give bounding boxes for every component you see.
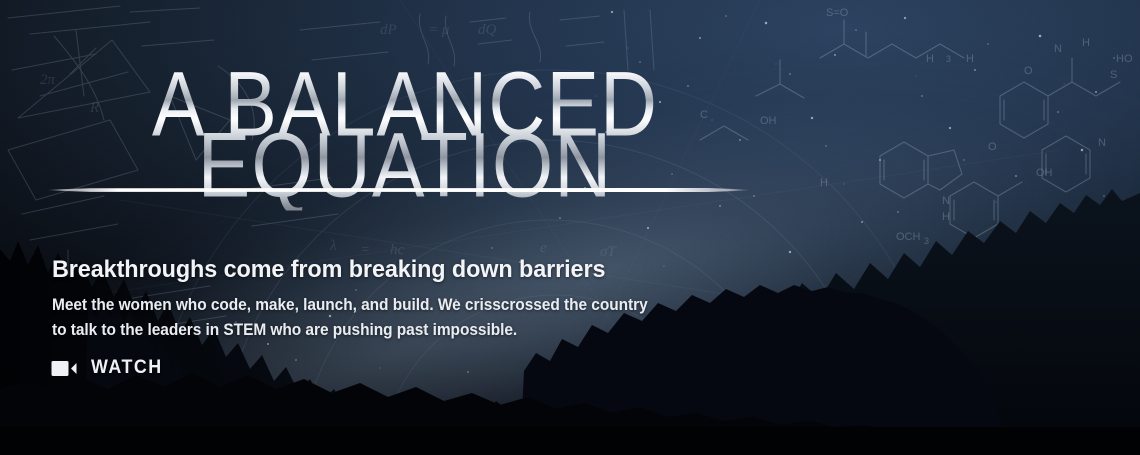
hero-copy-block: Breakthroughs come from breaking down ba…: [52, 256, 712, 343]
watch-button-label: WATCH: [91, 357, 163, 379]
hero-content: A BALANCED EQUATION Breakthroughs come f…: [0, 0, 1140, 455]
hero-title-block: A BALANCED EQUATION: [0, 58, 1140, 218]
hero-subcopy: Meet the women who code, make, launch, a…: [52, 293, 649, 343]
hero-banner: H 3 H N H S N O O N H OCH 3 OH HO S=O CO…: [0, 0, 1140, 455]
hero-title-line-2: EQUATION: [0, 119, 1140, 211]
hero-headline: Breakthroughs come from breaking down ba…: [52, 256, 682, 283]
video-camera-icon: [51, 360, 77, 377]
title-horizontal-rule: [48, 188, 750, 192]
watch-button[interactable]: WATCH: [51, 357, 167, 379]
